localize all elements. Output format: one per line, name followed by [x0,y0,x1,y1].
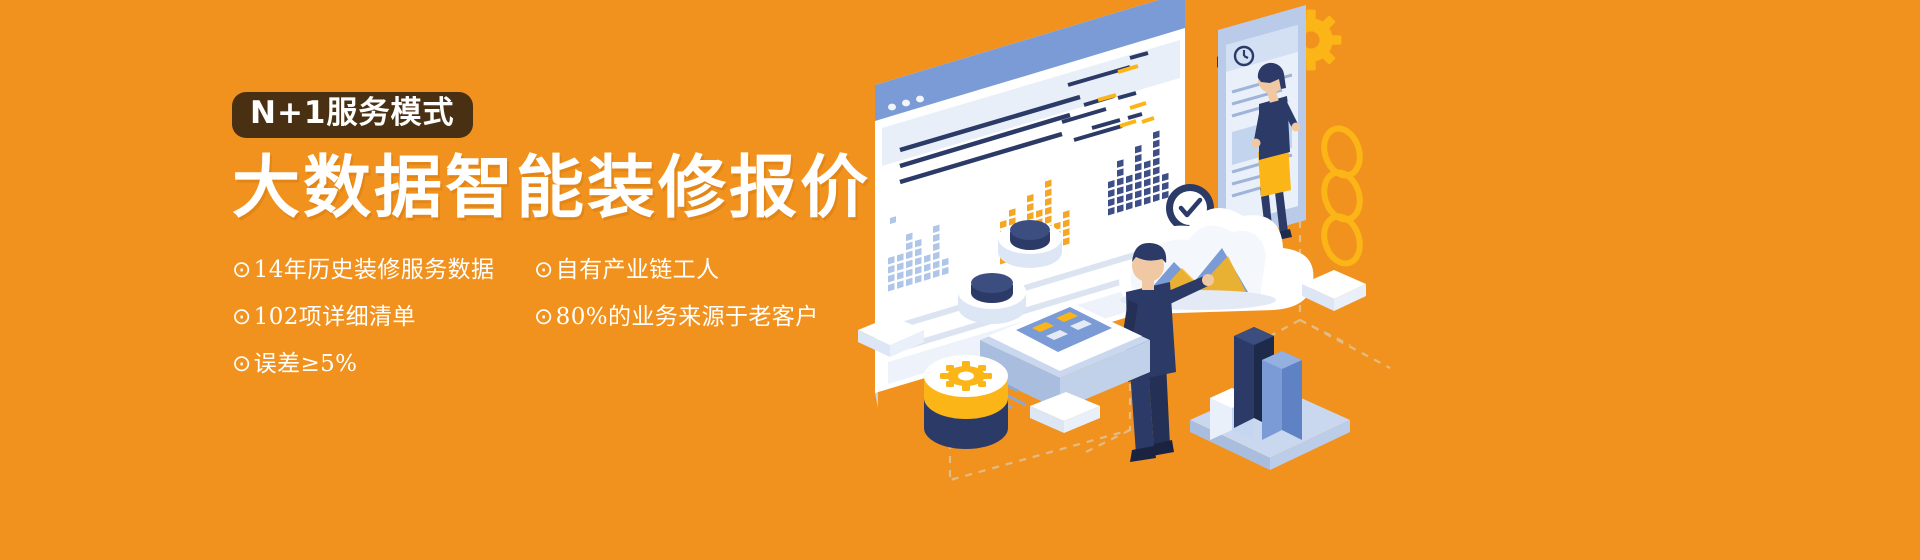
bullet-dot-icon: ⊙ [534,304,554,330]
bar-chart-blocks [1190,327,1350,470]
feature-item-label: 自有产业链工人 [556,257,720,283]
bullet-dot-icon: ⊙ [534,257,554,283]
bullet-dot-icon: ⊙ [232,304,252,330]
feature-column-right: ⊙自有产业链工人 ⊙80%的业务来源于老客户 [534,259,834,400]
feature-item: ⊙14年历史装修服务数据 [232,259,500,282]
bullet-dot-icon: ⊙ [232,257,252,283]
isometric-illustration [830,0,1920,560]
feature-item: ⊙80%的业务来源于老客户 [534,306,834,329]
bullet-dot-icon: ⊙ [232,351,252,377]
feature-column-left: ⊙14年历史装修服务数据 ⊙102项详细清单 ⊙误差≥5% [232,259,500,400]
service-model-badge: N+1服务模式 [232,92,473,138]
feature-item-label: 102项详细清单 [254,304,416,330]
feature-item: ⊙102项详细清单 [232,306,500,329]
feature-item: ⊙自有产业链工人 [534,259,834,282]
feature-item-label: 80%的业务来源于老客户 [556,304,819,330]
gear-barrel [924,355,1008,449]
promo-banner: N+1服务模式 大数据智能装修报价 ⊙14年历史装修服务数据 ⊙102项详细清单… [0,0,1920,560]
feature-item-label: 误差≥5% [254,351,358,377]
feature-item: ⊙误差≥5% [232,353,500,376]
feature-item-label: 14年历史装修服务数据 [254,257,495,283]
ring-stack [1318,124,1365,268]
